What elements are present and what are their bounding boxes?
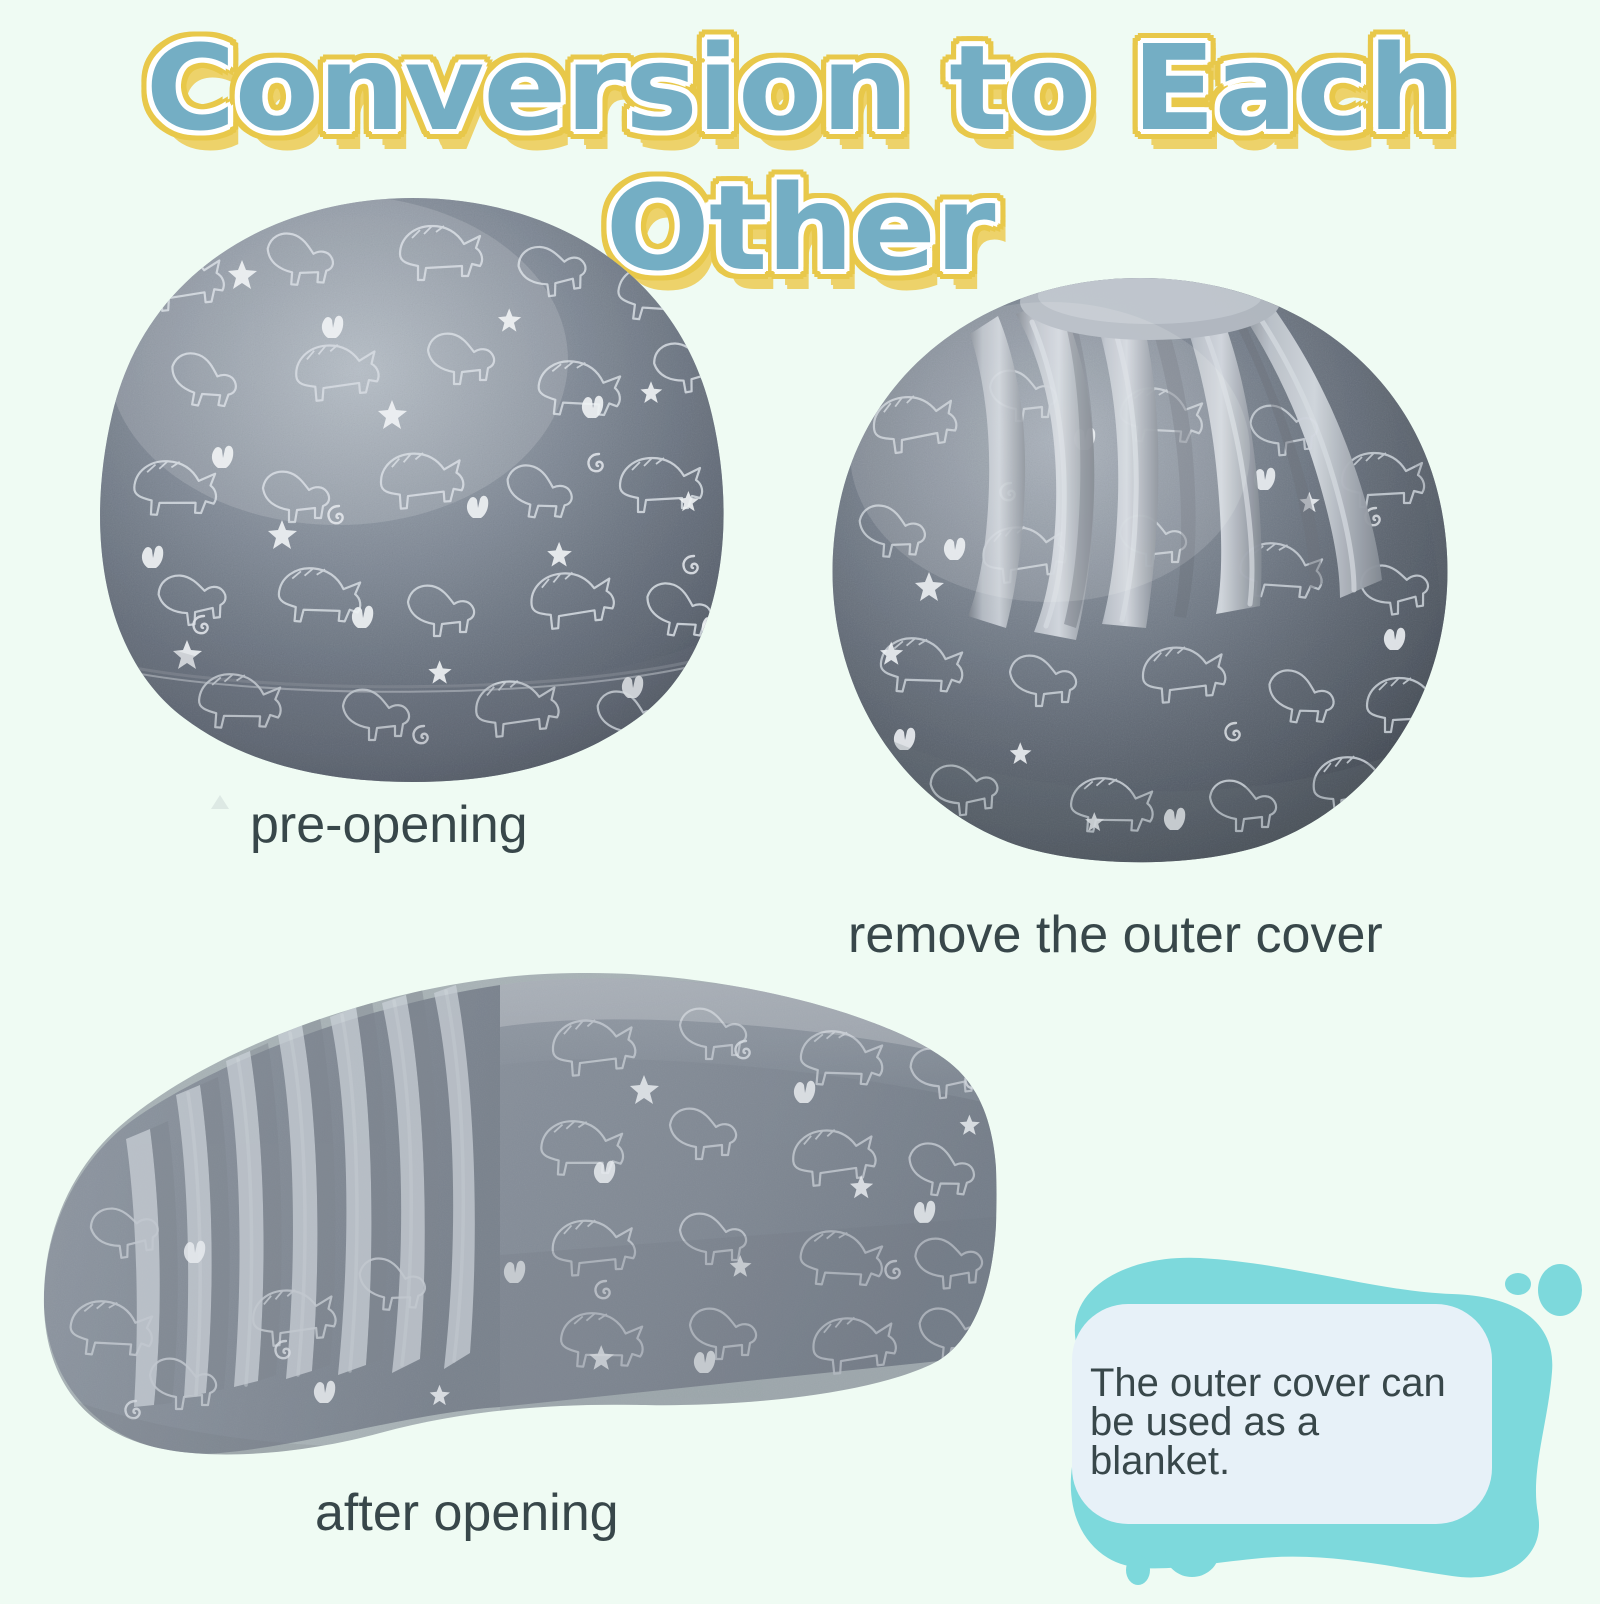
dot-bottom-left-large [1165, 1527, 1219, 1577]
dot-top-right-large [1538, 1264, 1582, 1316]
caption-after-opening: after opening [315, 1483, 619, 1543]
callout-line-3: blanket. [1090, 1442, 1510, 1481]
caption-remove-outer-cover: remove the outer cover [848, 905, 1383, 965]
folded-blanket-photo [30, 955, 1020, 1475]
triangle-marker-icon [211, 795, 229, 809]
dot-bottom-left-small [1126, 1555, 1150, 1585]
caption-pre-opening: pre-opening [250, 795, 528, 855]
callout-text: The outer cover can be used as a blanket… [1090, 1364, 1510, 1480]
callout-line-1: The outer cover can [1090, 1364, 1510, 1403]
bean-bag-cover-removed-photo [820, 272, 1460, 872]
callout-outer-cover-blanket: The outer cover can be used as a blanket… [1000, 1232, 1600, 1604]
page-title: Conversion to Each Other [0, 18, 1600, 178]
dot-top-right-small [1505, 1273, 1531, 1295]
callout-line-2: be used as a [1090, 1403, 1510, 1442]
bean-bag-closed-photo [78, 190, 748, 790]
